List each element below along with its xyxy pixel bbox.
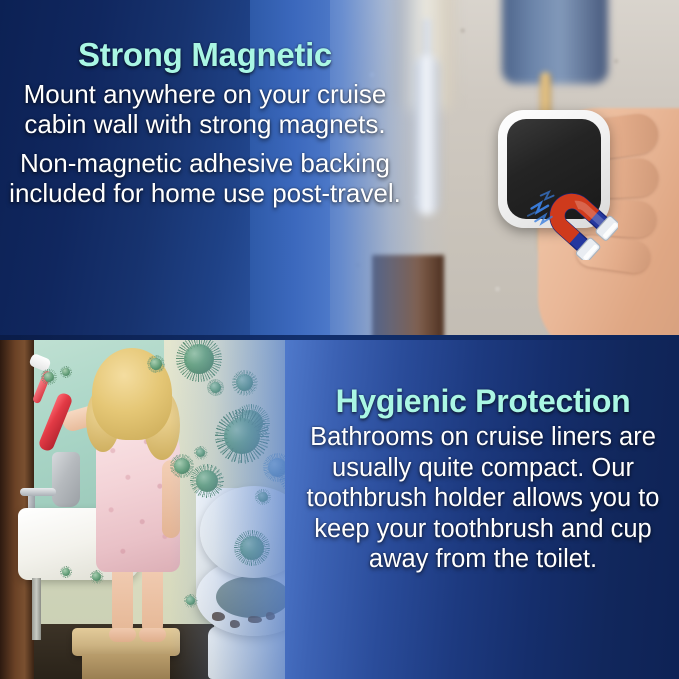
girl-foot-left — [109, 628, 136, 642]
germ — [62, 568, 70, 576]
hygienic-protection-paragraph-1: Bathrooms on cruise liners are usually q… — [292, 422, 674, 575]
girl-foot-right — [139, 628, 166, 642]
horseshoe-magnet-icon — [526, 168, 618, 260]
product-infographic: Strong Magnetic Mount anywhere on your c… — [0, 0, 679, 679]
germ — [62, 368, 70, 376]
magnet-spark-lines — [528, 192, 554, 223]
sink-pipe — [32, 578, 41, 640]
strong-magnetic-text: Strong Magnetic Mount anywhere on your c… — [8, 38, 402, 209]
girl-leg-left — [112, 562, 133, 636]
step-stool-leg — [82, 654, 170, 679]
strong-magnetic-paragraph-1: Mount anywhere on your cruise cabin wall… — [8, 79, 402, 139]
soap-dispenser — [52, 452, 80, 507]
faucet — [20, 488, 56, 496]
feature-section-strong-magnetic: Strong Magnetic Mount anywhere on your c… — [0, 0, 679, 340]
germ — [150, 358, 162, 370]
hygienic-protection-headline: Hygienic Protection — [292, 385, 674, 419]
germ — [92, 572, 101, 581]
hygienic-protection-text: Hygienic Protection Bathrooms on cruise … — [292, 385, 674, 575]
girl-leg-right — [142, 562, 163, 636]
strong-magnetic-paragraph-2: Non-magnetic adhesive backing included f… — [8, 148, 402, 208]
blurred-blue-cup — [502, 0, 608, 84]
germ — [44, 372, 54, 382]
strong-magnetic-headline: Strong Magnetic — [8, 38, 402, 73]
